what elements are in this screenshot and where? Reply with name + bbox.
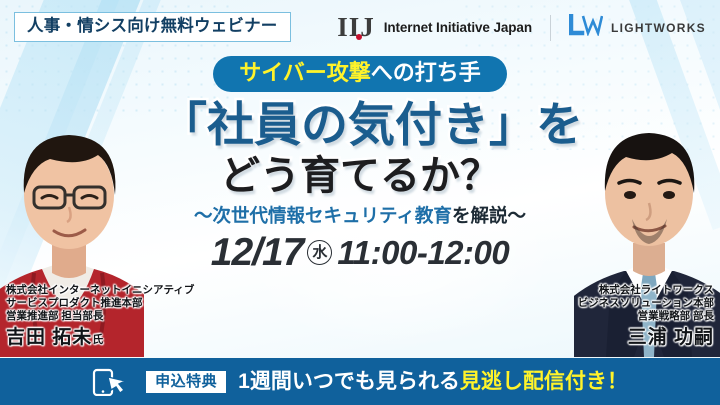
subtitle: ～次世代情報セキュリティ教育を解説～ — [160, 207, 560, 226]
bonus-text: 1週間いつでも見られる見逃し配信付き！ — [238, 371, 628, 392]
headline-line1: 「社員の気付き」を — [160, 101, 560, 148]
speaker-left-name: 吉田 拓未氏 — [6, 326, 194, 349]
speaker-left-org-line1: 株式会社インターネットイニシアティブ — [6, 284, 194, 297]
bonus-text-white: 1週間いつでも見られる — [238, 370, 460, 393]
subtitle-dark: を解説～ — [452, 205, 526, 226]
main-copy: サイバー攻撃への打ち手 「社員の気付き」を どう育てるか？ ～次世代情報セキュリ… — [160, 56, 560, 272]
speaker-credit-left: 株式会社インターネットイニシアティブ サービスプロダクト推進本部 営業推進部 担… — [6, 284, 194, 349]
logo-divider — [550, 15, 551, 41]
bonus-tag: 申込特典 — [146, 371, 226, 393]
topic-pill: サイバー攻撃への打ち手 — [213, 56, 507, 92]
speaker-left-name-suffix: 氏 — [92, 334, 103, 346]
smartphone-tap-icon — [92, 368, 134, 396]
iij-logo-label: Internet Initiative Japan — [384, 20, 532, 35]
bonus-bar: 申込特典 1週間いつでも見られる見逃し配信付き！ — [0, 358, 720, 405]
event-date: 12/17 — [211, 233, 304, 272]
speaker-left-org-line2: サービスプロダクト推進本部 — [6, 297, 194, 310]
event-datetime: 12/17 水 11:00-12:00 — [160, 233, 560, 272]
logo-group: IIJ Internet Initiative Japan LIGHTWORKS — [337, 14, 706, 41]
event-weekday: 水 — [307, 240, 332, 265]
eyebrow-badge: 人事・情シス向け無料ウェビナー — [14, 12, 291, 42]
topic-pill-rest: への打ち手 — [371, 60, 481, 85]
iij-wordmark-icon: IIJ — [337, 14, 375, 41]
speaker-right-org-line2: ビジネスソリューション本部 — [578, 297, 714, 310]
speaker-right-org-line1: 株式会社ライトワークス — [578, 284, 714, 297]
lightworks-logo-label: LIGHTWORKS — [611, 21, 706, 35]
speaker-left-org-line3: 営業推進部 担当部長 — [6, 310, 194, 323]
bonus-text-yellow: 見逃し配信付き！ — [460, 370, 628, 393]
event-time: 11:00-12:00 — [337, 236, 509, 269]
webinar-banner: 人事・情シス向け無料ウェビナー IIJ Internet Initiative … — [0, 0, 720, 405]
iij-logo: IIJ Internet Initiative Japan — [337, 14, 532, 41]
lightworks-mark-icon — [569, 14, 603, 41]
speaker-credit-right: 株式会社ライトワークス ビジネスソリューション本部 営業戦略部 部長 三浦 功嗣 — [578, 284, 714, 349]
speaker-right-org-line3: 営業戦略部 部長 — [578, 310, 714, 323]
speaker-right-name: 三浦 功嗣 — [578, 326, 714, 349]
lightworks-logo: LIGHTWORKS — [569, 14, 706, 41]
topic-pill-highlight: サイバー攻撃 — [239, 60, 371, 85]
headline-line2: どう育てるか？ — [160, 156, 560, 196]
subtitle-blue: ～次世代情報セキュリティ教育 — [194, 205, 452, 226]
